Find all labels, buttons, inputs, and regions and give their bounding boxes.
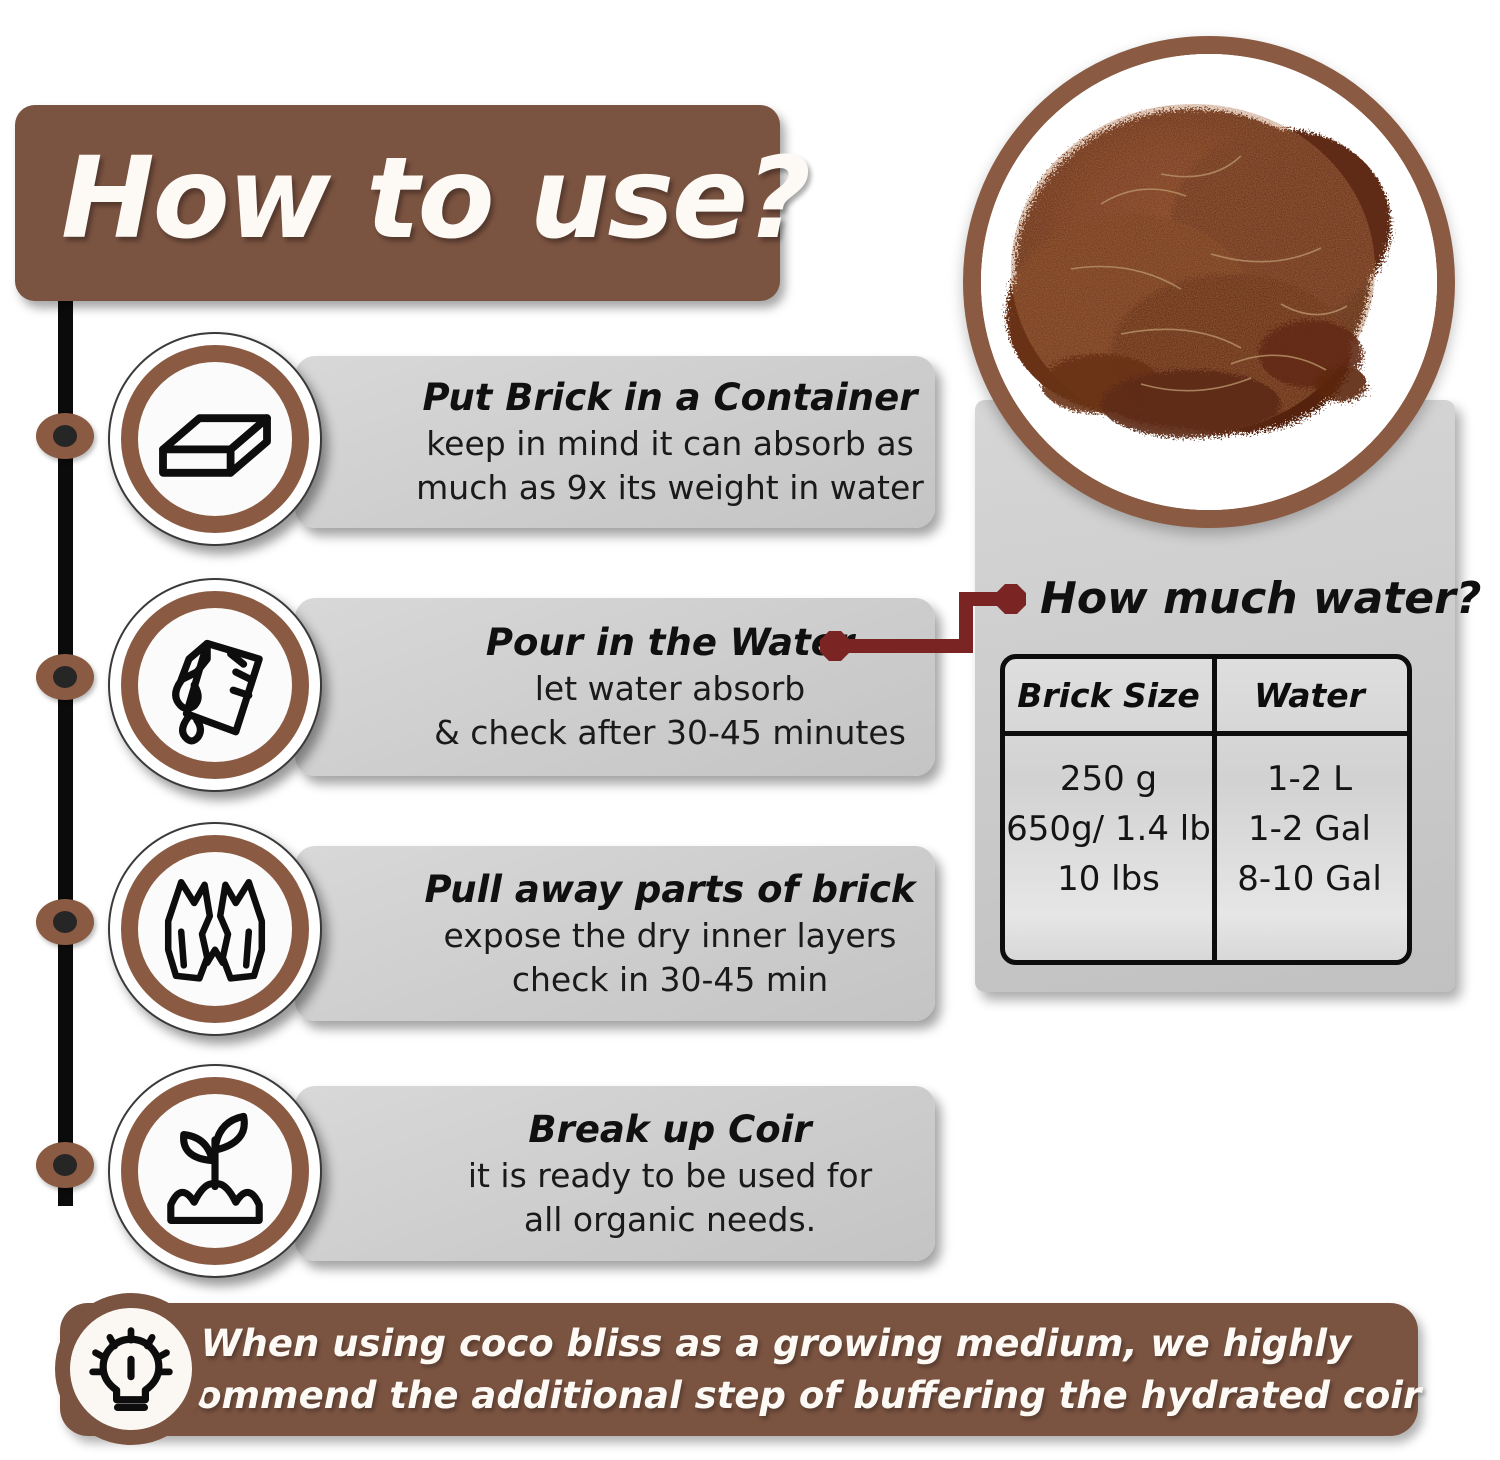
connector-dot-right bbox=[996, 584, 1026, 614]
step-icon-4 bbox=[108, 1064, 322, 1278]
table-cell: 10 lbs bbox=[1057, 854, 1160, 904]
step-subtitle-line: much as 9x its weight in water bbox=[416, 466, 924, 510]
table-cell: 650g/ 1.4 lb bbox=[1006, 804, 1211, 854]
step-title: Break up Coir bbox=[528, 1106, 811, 1154]
step-subtitle-line: keep in mind it can absorb as bbox=[426, 422, 914, 466]
step-card-4: Break up Coir it is ready to be used for… bbox=[295, 1086, 935, 1261]
table-cell: 8-10 Gal bbox=[1237, 854, 1382, 904]
timeline-node-4 bbox=[36, 1142, 94, 1188]
timeline-node-1 bbox=[36, 413, 94, 459]
infographic-root: How to use? bbox=[0, 0, 1500, 1460]
coir-pile-illustration bbox=[981, 54, 1437, 510]
title-banner: How to use? bbox=[15, 105, 780, 301]
table-header-brick-size: Brick Size bbox=[1005, 659, 1212, 731]
timeline-node-3 bbox=[36, 899, 94, 945]
step-subtitle-line: & check after 30-45 minutes bbox=[434, 711, 906, 755]
footer-text: When using coco bliss as a growing mediu… bbox=[35, 1318, 1443, 1422]
hands-pulling-icon bbox=[150, 864, 280, 994]
footer-line: When using coco bliss as a growing mediu… bbox=[131, 1318, 1421, 1370]
step-card-1: Put Brick in a Container keep in mind it… bbox=[295, 356, 935, 528]
page-title: How to use? bbox=[61, 133, 809, 265]
step-icon-1 bbox=[108, 332, 322, 546]
table-body: 250 g 650g/ 1.4 lb 10 lbs 1-2 L 1-2 Gal … bbox=[1005, 736, 1407, 960]
table-column-brick-size: 250 g 650g/ 1.4 lb 10 lbs bbox=[1005, 736, 1212, 960]
water-table: Brick Size Water 250 g 650g/ 1.4 lb 10 l… bbox=[1000, 654, 1412, 965]
step-card-2: Pour in the Water let water absorb & che… bbox=[295, 598, 935, 776]
watering-jug-icon bbox=[150, 620, 280, 750]
how-much-water-heading: How much water? bbox=[1040, 573, 1481, 625]
table-cell: 1-2 Gal bbox=[1248, 804, 1371, 854]
footer-line: recommend the additional step of bufferi… bbox=[131, 1370, 1421, 1422]
table-column-water: 1-2 L 1-2 Gal 8-10 Gal bbox=[1212, 736, 1407, 960]
lightbulb-icon bbox=[83, 1321, 179, 1417]
step-subtitle-line: check in 30-45 min bbox=[512, 958, 828, 1002]
step-subtitle-line: let water absorb bbox=[535, 667, 805, 711]
footer-icon-wrap bbox=[55, 1293, 207, 1445]
step-subtitle-line: all organic needs. bbox=[524, 1198, 816, 1242]
step-subtitle-line: expose the dry inner layers bbox=[444, 914, 897, 958]
table-column-divider bbox=[1212, 659, 1217, 965]
step-title: Pour in the Water bbox=[486, 619, 854, 667]
step-title: Pull away parts of brick bbox=[424, 866, 915, 914]
footer-banner: When using coco bliss as a growing mediu… bbox=[60, 1303, 1418, 1436]
table-header-row: Brick Size Water bbox=[1005, 659, 1407, 736]
connector-dot-left bbox=[820, 631, 850, 661]
step-card-3: Pull away parts of brick expose the dry … bbox=[295, 846, 935, 1021]
connector-line-h1 bbox=[833, 639, 973, 653]
table-cell: 1-2 L bbox=[1267, 754, 1352, 804]
coco-coir-photo bbox=[963, 36, 1455, 528]
step-title: Put Brick in a Container bbox=[423, 374, 918, 422]
step-icon-3 bbox=[108, 822, 322, 1036]
table-header-water: Water bbox=[1212, 659, 1407, 731]
brick-icon bbox=[150, 374, 280, 504]
sprout-icon bbox=[150, 1106, 280, 1236]
step-subtitle-line: it is ready to be used for bbox=[468, 1154, 872, 1198]
timeline-node-2 bbox=[36, 654, 94, 700]
table-cell: 250 g bbox=[1060, 754, 1157, 804]
step-icon-2 bbox=[108, 578, 322, 792]
